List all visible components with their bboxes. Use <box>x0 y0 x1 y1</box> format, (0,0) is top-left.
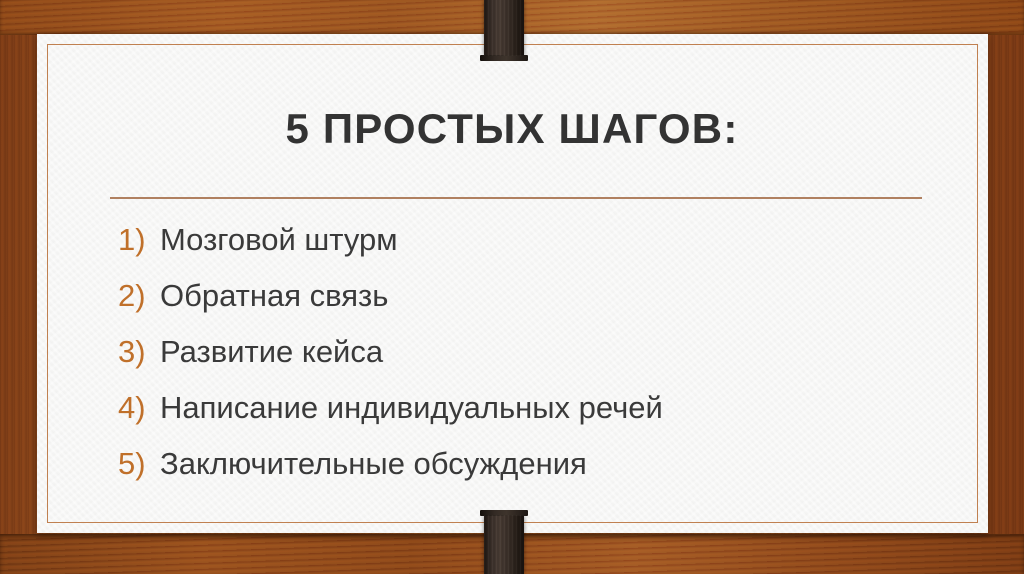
step-marker: 4) <box>118 380 160 436</box>
title-divider <box>110 197 922 199</box>
presentation-slide: 5 ПРОСТЫХ ШАГОВ: 1) Мозговой штурм 2) Об… <box>0 0 1024 574</box>
list-item: 5) Заключительные обсуждения <box>118 436 958 492</box>
step-marker: 3) <box>118 324 160 380</box>
step-label: Обратная связь <box>160 268 958 324</box>
step-marker: 1) <box>118 212 160 268</box>
step-marker: 5) <box>118 436 160 492</box>
step-label: Заключительные обсуждения <box>160 436 958 492</box>
list-item: 2) Обратная связь <box>118 268 958 324</box>
slide-content: 5 ПРОСТЫХ ШАГОВ: 1) Мозговой штурм 2) Об… <box>0 0 1024 574</box>
slide-title: 5 ПРОСТЫХ ШАГОВ: <box>0 106 1024 151</box>
step-marker: 2) <box>118 268 160 324</box>
steps-list: 1) Мозговой штурм 2) Обратная связь 3) Р… <box>118 212 958 492</box>
list-item: 3) Развитие кейса <box>118 324 958 380</box>
list-item: 4) Написание индивидуальных речей <box>118 380 958 436</box>
step-label: Развитие кейса <box>160 324 958 380</box>
list-item: 1) Мозговой штурм <box>118 212 958 268</box>
step-label: Написание индивидуальных речей <box>160 380 958 436</box>
step-label: Мозговой штурм <box>160 212 958 268</box>
